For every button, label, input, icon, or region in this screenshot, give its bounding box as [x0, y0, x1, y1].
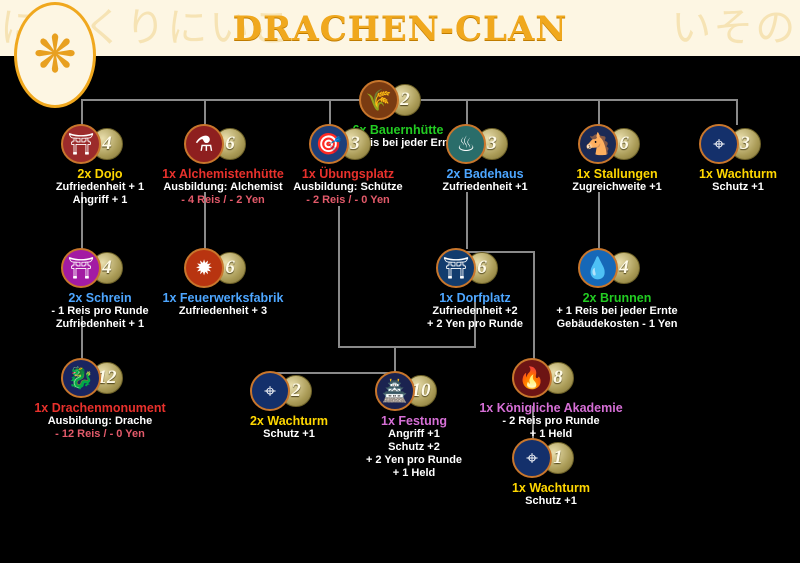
clan-emblem: ❋ — [14, 2, 96, 108]
node-effect: + 1 Held — [421, 428, 681, 441]
node-effect: Schutz +1 — [608, 181, 800, 194]
farm-hut-icon[interactable]: 🌾 — [359, 80, 399, 120]
edge-festung-drop — [394, 346, 396, 372]
dojo-icon[interactable]: ⛩ — [61, 124, 101, 164]
dragon-monument-icon[interactable]: 🐉 — [61, 358, 101, 398]
node-title: 1x Feuerwerksfabrik — [93, 292, 353, 305]
node-effect: Zufriedenheit + 3 — [93, 305, 353, 318]
alchemist-hut-icon[interactable]: ⚗ — [184, 124, 224, 164]
royal-academy-icon[interactable]: 🔥 — [512, 358, 552, 398]
page-title: DRACHEN-CLAN — [0, 0, 800, 56]
edge-drop-to-alchemist — [204, 99, 206, 125]
node-effect: + 1 Reis bei jeder Ernte — [487, 305, 747, 318]
node-label-block: 1x FeuerwerksfabrikZufriedenheit + 3 — [93, 292, 353, 318]
watchtower-icon[interactable]: ⌖ — [250, 371, 290, 411]
node-label-block: 2x Brunnen+ 1 Reis bei jeder ErnteGebäud… — [487, 292, 747, 331]
fortress-icon[interactable]: 🏯 — [375, 371, 415, 411]
shrine-icon[interactable]: ⛩ — [61, 248, 101, 288]
edge-stallungen-to-brunnen — [598, 192, 600, 249]
stables-icon[interactable]: 🐴 — [578, 124, 618, 164]
fireworks-factory-icon[interactable]: ✹ — [184, 248, 224, 288]
node-effect: + 2 Yen pro Runde — [284, 454, 544, 467]
bath-house-icon[interactable]: ♨ — [446, 124, 486, 164]
node-effect: Zufriedenheit + 1 — [0, 318, 230, 331]
node-title: 1x Drachenmonument — [0, 402, 230, 415]
node-effect: Gebäudekosten - 1 Yen — [487, 318, 747, 331]
edge-drop-to-wachturm-top — [736, 99, 738, 125]
edge-drop-to-badehaus — [466, 99, 468, 125]
node-label-block: 1x WachturmSchutz +1 — [421, 482, 681, 508]
dragon-clan-emblem-icon: ❋ — [17, 5, 93, 105]
node-label-block: 1x WachturmSchutz +1 — [608, 168, 800, 194]
well-icon[interactable]: 💧 — [578, 248, 618, 288]
node-title: 1x Wachturm — [608, 168, 800, 181]
node-effect: Schutz +2 — [284, 441, 544, 454]
node-title: 1x Wachturm — [421, 482, 681, 495]
watchtower-icon[interactable]: ⌖ — [512, 438, 552, 478]
node-cost-text: - 2 Reis / - 0 Yen — [218, 194, 478, 207]
node-title: 1x Königliche Akademie — [421, 402, 681, 415]
node-effect: - 2 Reis pro Runde — [421, 415, 681, 428]
edge-wachturm-mid-to-festung — [270, 372, 395, 374]
page-header: にそくりにいこ いそのういひいすん DRACHEN-CLAN — [0, 0, 800, 56]
training-ground-icon[interactable]: 🎯 — [309, 124, 349, 164]
tech-tree-canvas: 🌾26x Bauernhütte+ 1 Reis bei jeder Ernte… — [0, 56, 800, 563]
node-label-block: 1x Königliche Akademie- 2 Reis pro Runde… — [421, 402, 681, 441]
edge-uebungsplatz-down — [338, 206, 340, 346]
village-square-icon[interactable]: ⛩ — [436, 248, 476, 288]
node-effect: + 1 Held — [284, 467, 544, 480]
node-effect: Schutz +1 — [421, 495, 681, 508]
node-title: 2x Brunnen — [487, 292, 747, 305]
edge-drop-to-stallungen — [598, 99, 600, 125]
watchtower-icon[interactable]: ⌖ — [699, 124, 739, 164]
edge-drop-to-uebungsplatz — [329, 99, 331, 125]
edge-uebungsplatz-festung-bus — [338, 346, 476, 348]
